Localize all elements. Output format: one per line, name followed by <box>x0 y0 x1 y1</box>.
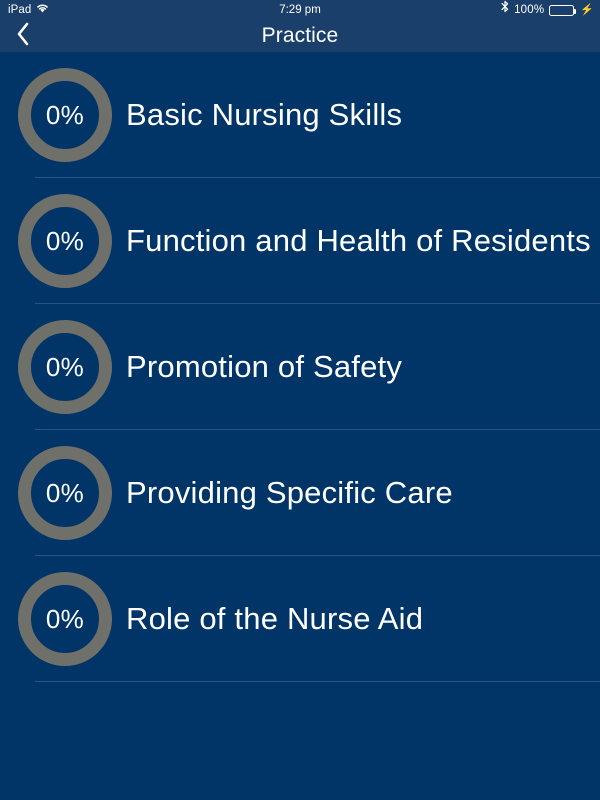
progress-ring: 0% <box>18 68 112 162</box>
bluetooth-icon <box>501 0 509 20</box>
progress-percent-label: 0% <box>18 194 112 288</box>
progress-percent-label: 0% <box>18 68 112 162</box>
list-item[interactable]: 0% Function and Health of Residents <box>0 178 600 304</box>
list-item-label: Basic Nursing Skills <box>126 97 402 133</box>
list-separator <box>35 681 600 682</box>
progress-percent-label: 0% <box>18 320 112 414</box>
list-item-label: Promotion of Safety <box>126 349 402 385</box>
progress-ring: 0% <box>18 320 112 414</box>
charging-bolt-icon: ⚡ <box>580 0 594 20</box>
status-bar-right: 100% ⚡ <box>501 0 594 20</box>
list-item[interactable]: 0% Promotion of Safety <box>0 304 600 430</box>
progress-percent-label: 0% <box>18 446 112 540</box>
practice-topic-list: 0% Basic Nursing Skills 0% Function and … <box>0 52 600 800</box>
progress-ring: 0% <box>18 572 112 666</box>
page-title: Practice <box>0 20 600 52</box>
list-item-label: Providing Specific Care <box>126 475 453 511</box>
list-item[interactable]: 0% Providing Specific Care <box>0 430 600 556</box>
list-item[interactable]: 0% Basic Nursing Skills <box>0 52 600 178</box>
battery-percent-label: 100% <box>514 0 544 20</box>
progress-ring: 0% <box>18 446 112 540</box>
battery-icon <box>549 5 574 16</box>
list-item-label: Function and Health of Residents <box>126 223 591 259</box>
list-item-label: Role of the Nurse Aid <box>126 601 423 637</box>
progress-percent-label: 0% <box>18 572 112 666</box>
list-item[interactable]: 0% Role of the Nurse Aid <box>0 556 600 682</box>
practice-screen: iPad 7:29 pm 100% ⚡ <box>0 0 600 800</box>
progress-ring: 0% <box>18 194 112 288</box>
nav-bar: Practice <box>0 20 600 52</box>
status-bar: iPad 7:29 pm 100% ⚡ <box>0 0 600 20</box>
